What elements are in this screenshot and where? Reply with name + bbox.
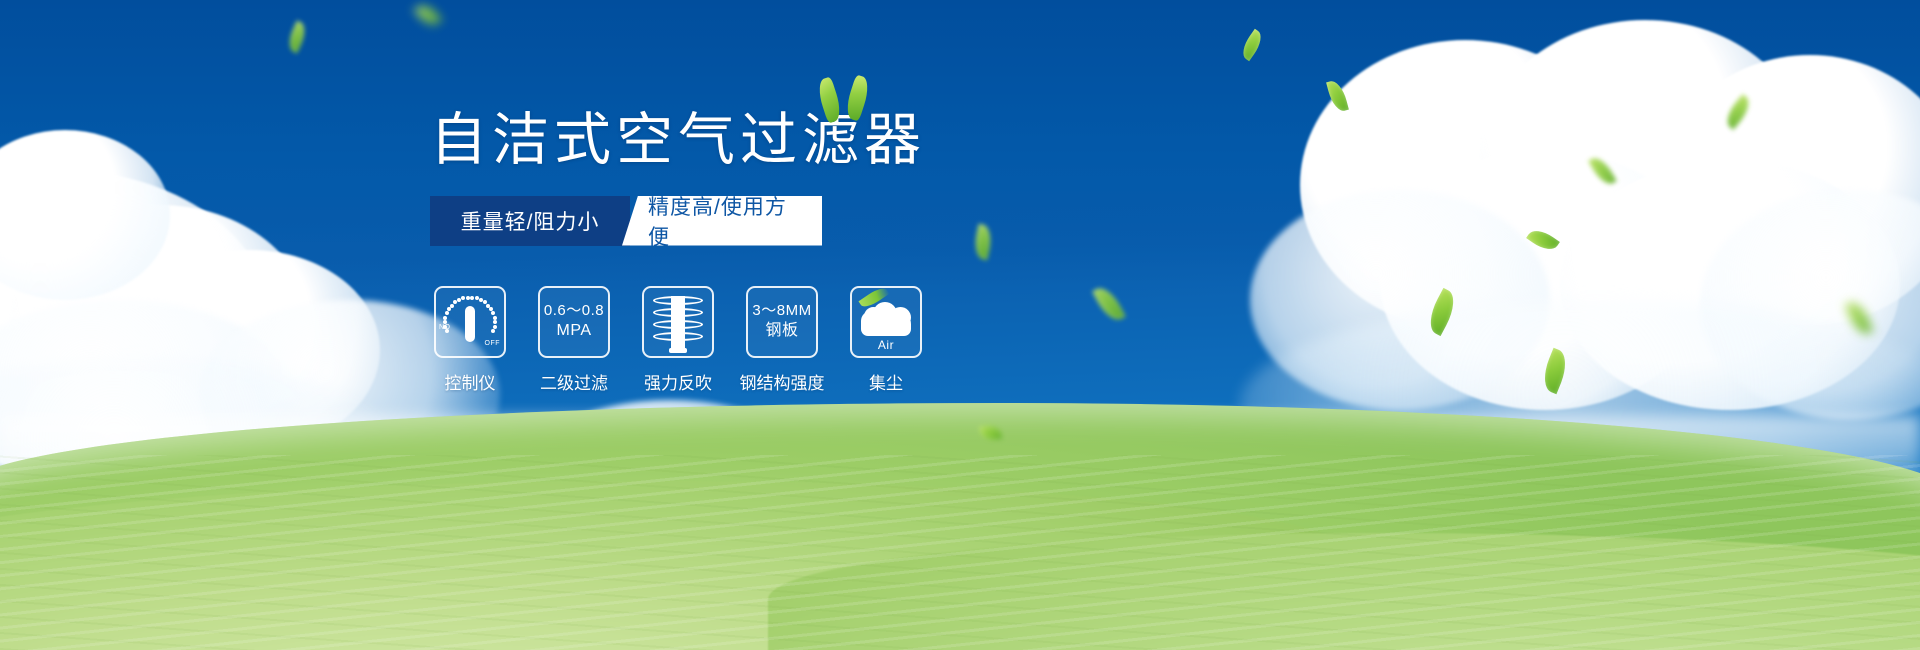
hero-banner: 自洁式空气过滤器 重量轻/阻力小 精度高/使用方便 NO OFF [0,0,1920,650]
air-cloud-icon: Air [857,296,915,348]
feature-caption: 控制仪 [445,369,496,394]
dial-tick-icon [466,296,470,300]
dial-on-label: NO [439,324,451,331]
steel-thickness: 3～8MM [752,302,811,321]
feature-icon-row: NO OFF 控制仪 0.6～0.8 MPA 二级过滤 [430,286,1150,394]
dial-tick-icon [491,329,495,333]
feature-item-steel-structure-strength[interactable]: 3～8MM 钢板 钢结构强度 [742,286,822,394]
page-title: 自洁式空气过滤器 [430,110,1150,172]
dial-tick-icon [493,316,497,320]
steel-plate-text-icon: 3～8MM 钢板 [752,302,811,341]
feature-caption: 强力反吹 [644,369,712,394]
dial-off-label: OFF [485,340,501,347]
banner-content: 自洁式空气过滤器 重量轻/阻力小 精度高/使用方便 NO OFF [430,110,1150,394]
steel-material: 钢板 [752,321,811,341]
feature-icon-box: NO OFF [434,286,506,358]
dial-tick-icon [443,316,447,320]
feature-item-controller[interactable]: NO OFF 控制仪 [430,286,510,394]
control-dial-icon: NO OFF [441,294,499,350]
dial-tick-icon [450,304,454,308]
feature-item-strong-backblow[interactable]: 强力反吹 [638,286,718,394]
dial-tick-icon [493,325,497,329]
feature-caption: 集尘 [869,369,903,394]
dial-tick-icon [470,296,474,300]
dial-tick-icon [493,320,497,324]
tab-high-precision-easy-use[interactable]: 精度高/使用方便 [622,196,822,246]
tab-lightweight-low-resistance[interactable]: 重量轻/阻力小 [430,196,630,246]
feature-caption: 二级过滤 [540,369,608,394]
feature-item-dust-collection[interactable]: Air 集尘 [846,286,926,394]
cloud-body-icon [861,311,911,336]
sprout-leaf-right-icon [843,74,873,121]
feature-icon-box [642,286,714,358]
filter-element-icon [653,294,703,350]
feature-icon-box: 0.6～0.8 MPA [538,286,610,358]
grass-texture [0,455,1920,650]
sprout-leaf-left-icon [815,76,845,123]
dial-tick-icon [461,296,465,300]
pressure-unit: MPA [544,321,604,341]
feature-item-two-stage-filtration[interactable]: 0.6～0.8 MPA 二级过滤 [534,286,614,394]
feature-caption: 钢结构强度 [740,369,825,394]
filter-cap-icon [669,348,687,353]
air-label: Air [857,338,915,352]
tab-label: 精度高/使用方便 [648,191,804,251]
tab-label: 重量轻/阻力小 [461,206,600,236]
feature-tabs: 重量轻/阻力小 精度高/使用方便 [430,196,826,246]
pressure-value: 0.6～0.8 [544,302,604,321]
dial-needle-icon [465,306,475,342]
dial-tick-icon [445,311,449,315]
sprout-leaves-icon [817,76,877,122]
pressure-text-icon: 0.6～0.8 MPA [544,302,604,341]
dial-tick-icon [447,307,451,311]
dial-tick-icon [491,311,495,315]
feature-icon-box: 3～8MM 钢板 [746,286,818,358]
feature-icon-box: Air [850,286,922,358]
